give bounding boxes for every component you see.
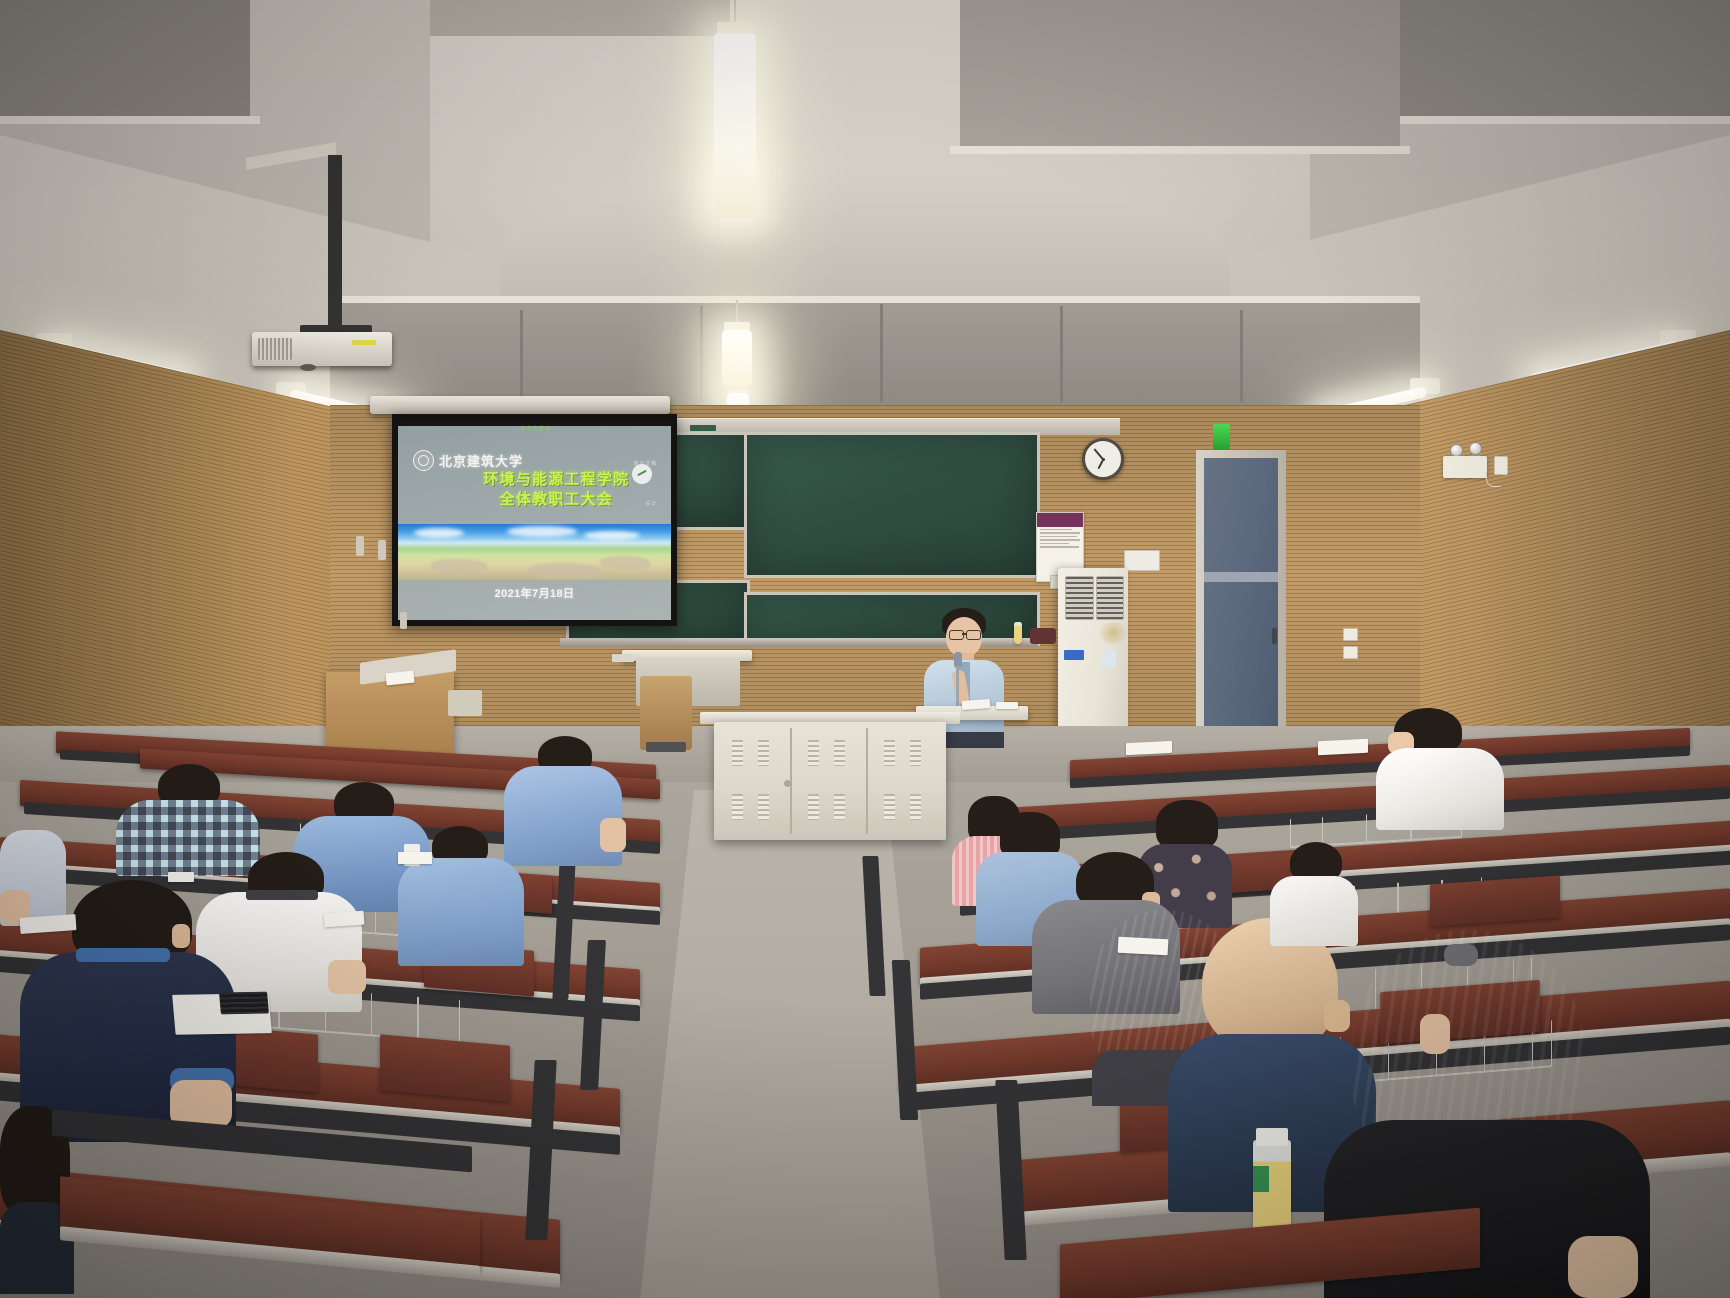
glasses-icon: [949, 630, 964, 640]
university-seal-icon: [413, 450, 434, 471]
terrain-shape: [529, 563, 603, 579]
paper-handout: [962, 699, 991, 710]
poster-text-line: [1040, 539, 1080, 541]
glasses-icon: [966, 630, 981, 640]
ceiling-coffer: [0, 0, 250, 120]
cloud-shape: [584, 531, 640, 540]
glasses-bridge: [962, 633, 966, 635]
cabinet-vent: [808, 794, 819, 820]
wall-clock: [1082, 438, 1124, 480]
ceiling-coffer-edge: [0, 116, 260, 124]
ceiling-rail: [700, 306, 703, 402]
clock-center-pin: [1102, 458, 1105, 461]
pendant-cord: [734, 0, 736, 24]
equipment-cabinet: [714, 722, 946, 840]
projector-vent: [258, 338, 292, 360]
cabinet-vent: [808, 740, 819, 766]
cloud-shape: [414, 528, 464, 538]
front-chair-base: [646, 742, 686, 752]
terrain-shape: [431, 559, 487, 573]
clock-hour-hand: [1097, 460, 1103, 470]
attendee-white-tee-far: [1270, 842, 1360, 942]
cloud-shape: [507, 526, 577, 537]
poster-text-line: [1040, 529, 1072, 531]
cabinet-vent: [834, 794, 845, 820]
bottle-cap: [1256, 1128, 1288, 1146]
poster-text-line: [1040, 546, 1079, 548]
projector-lens: [300, 364, 316, 371]
paper-handout: [1126, 741, 1172, 755]
projection-screen-case: [370, 396, 670, 414]
arm: [600, 818, 626, 852]
cabinet-vent: [834, 740, 845, 766]
basket-bar: [371, 993, 373, 1035]
slide-title-line2: 全体教职工大会: [442, 490, 671, 510]
console-shelf: [612, 654, 634, 662]
wall-switch-plate[interactable]: [1343, 646, 1358, 659]
podium-side-panel: [448, 690, 482, 716]
seat-back: [380, 1034, 510, 1101]
slide-date: 2021年7月18日: [398, 585, 671, 601]
arm: [1568, 1236, 1638, 1298]
paper-handout: [1118, 937, 1169, 956]
hair-tie: [1444, 944, 1478, 966]
paper-handout: [996, 702, 1018, 709]
pendant-cord: [736, 300, 738, 324]
ac-brand-badge: [1064, 650, 1084, 660]
poster-header: [1037, 513, 1083, 527]
ceiling-coffer-edge: [950, 146, 1410, 154]
cabinet-vent: [758, 794, 769, 820]
exit-sign-glow: [1213, 424, 1230, 450]
cabinet-handle[interactable]: [784, 780, 791, 787]
university-name: 北京建筑大学: [439, 451, 523, 470]
ear: [172, 924, 190, 948]
door-rail: [1204, 572, 1278, 582]
slide-landscape-image: [398, 524, 671, 580]
projector-label-sticker: [352, 340, 376, 345]
wall-switch-plate[interactable]: [1124, 550, 1160, 571]
cabinet-vent: [732, 740, 743, 766]
cabinet-vent: [758, 740, 769, 766]
paper-handout: [398, 852, 432, 864]
emergency-lamp-icon: [1469, 442, 1482, 455]
wall-hook: [378, 540, 386, 560]
paper-handout: [1318, 739, 1368, 756]
phone-cord: [1486, 472, 1501, 487]
attendee-white-shirt-right: [1376, 708, 1506, 826]
air-conditioner: [1058, 568, 1128, 748]
door-handle[interactable]: [1272, 628, 1277, 644]
classroom-door[interactable]: [1204, 458, 1278, 748]
ceiling-coffer: [960, 0, 1400, 150]
ceiling-coffer-edge: [1400, 116, 1730, 124]
cabinet-vent: [732, 794, 743, 820]
front-chair: [640, 676, 692, 750]
cabinet-vent: [910, 740, 921, 766]
torso: [1376, 748, 1504, 830]
chalk-eraser: [690, 425, 716, 431]
ceiling-coffer: [430, 0, 730, 36]
cabinet-door-split: [866, 728, 868, 834]
ac-vent-grille: [1065, 576, 1094, 620]
basket-bar: [417, 997, 419, 1039]
arm: [328, 960, 366, 994]
chalkboard-panel-3: [744, 432, 1040, 578]
torso: [1270, 876, 1358, 946]
ear: [1420, 1014, 1450, 1054]
exit-sign: [1213, 424, 1230, 450]
projector-mount-pole: [328, 155, 342, 335]
slide-status-badge: 幻灯片放映: [521, 425, 551, 432]
cabinet-vent: [884, 794, 895, 820]
slide-title-line1: 环境与能源工程学院: [442, 470, 671, 490]
presentation-slide: 幻灯片放映 演示文稿 设计 北京建筑大学 环境与能源工程学院 全体教职工大会 2…: [398, 420, 671, 620]
paper-handout: [168, 872, 194, 882]
ceiling-rail: [1060, 306, 1063, 402]
basket-bar: [1366, 815, 1368, 843]
pendant-tube: [714, 33, 756, 218]
ceiling-recess-band: [330, 300, 1420, 408]
pendant-light-2: [712, 300, 762, 390]
pendant-light-1: [700, 0, 770, 230]
ac-vent-grille: [1096, 576, 1124, 620]
wall-switch-plate[interactable]: [1343, 628, 1358, 641]
ceiling-rail: [880, 304, 883, 402]
pendant-tube: [722, 330, 752, 386]
poster-text-line: [1040, 543, 1069, 545]
wall-hook: [356, 536, 364, 556]
torso: [398, 858, 524, 966]
terrain-shape: [600, 556, 650, 569]
ac-wall-stain: [1096, 622, 1130, 644]
paper-handout: [324, 911, 365, 928]
ceiling-coffer: [1400, 0, 1730, 120]
ceiling-recess-edge: [330, 296, 1420, 303]
bottle-on-ledge: [1014, 622, 1022, 644]
ceiling-rail: [520, 310, 523, 402]
ceiling-rail: [1240, 310, 1243, 402]
ac-display-panel[interactable]: [1102, 650, 1116, 668]
cabinet-vent: [910, 794, 921, 820]
slide-title: 环境与能源工程学院 全体教职工大会: [398, 470, 671, 511]
emergency-light: [1443, 456, 1487, 478]
cabinet-vent: [884, 740, 895, 766]
hair: [1156, 800, 1218, 850]
lanyard: [76, 948, 170, 962]
lanyard: [246, 890, 318, 900]
poster-text-line: [1040, 532, 1080, 534]
slide-university-logo: 北京建筑大学: [413, 450, 523, 471]
poster-text-line: [1040, 536, 1077, 538]
bag-on-ledge: [1030, 628, 1056, 644]
lecture-hall-photo: 幻灯片放映 演示文稿 设计 北京建筑大学 环境与能源工程学院 全体教职工大会 2…: [0, 0, 1730, 1298]
calculator: [219, 992, 269, 1015]
projection-screen: 幻灯片放映 演示文稿 设计 北京建筑大学 环境与能源工程学院 全体教职工大会 2…: [392, 414, 677, 626]
bottle-label: [1253, 1166, 1269, 1192]
wall-hook: [400, 612, 407, 629]
